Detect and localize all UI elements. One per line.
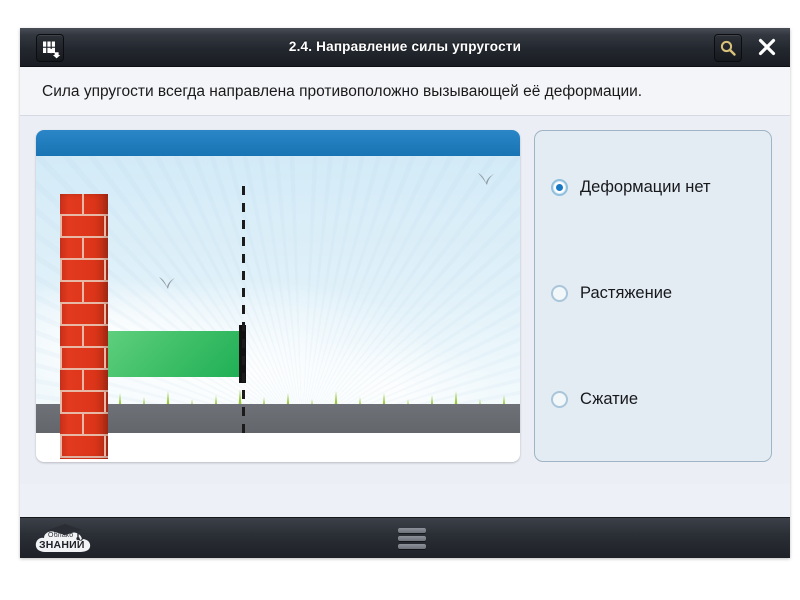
bottom-bar: Облако ЗНАНИЙ	[20, 517, 790, 558]
title-bar: 2.4. Направление силы упругости	[20, 28, 790, 67]
ground	[36, 404, 520, 433]
dashed-reference-line	[242, 186, 245, 438]
green-beam	[108, 331, 242, 377]
answer-options: Деформации нет Растяжение Сжатие	[534, 130, 772, 462]
page-title: 2.4. Направление силы упругости	[20, 28, 790, 66]
sky-background	[36, 156, 520, 433]
hamburger-bar	[398, 536, 426, 541]
radio-icon[interactable]	[551, 391, 568, 408]
brick-wall	[60, 194, 108, 459]
brand-logo[interactable]: Облако ЗНАНИЙ	[32, 522, 98, 554]
answer-option-1[interactable]: Растяжение	[551, 279, 771, 307]
hamburger-bar	[398, 528, 426, 533]
bird-icon	[477, 170, 495, 186]
screenshot-root: 2.4. Направление силы упругости Сила упр…	[0, 0, 800, 600]
content-area: Деформации нет Растяжение Сжатие	[20, 116, 790, 484]
radio-icon-selected[interactable]	[551, 179, 568, 196]
answer-option-label: Растяжение	[580, 284, 672, 303]
elastic-force-illustration	[36, 130, 520, 462]
answer-option-label: Деформации нет	[580, 178, 711, 197]
magnifier-glyph	[715, 35, 741, 61]
bird-icon	[158, 274, 176, 290]
answer-option-label: Сжатие	[580, 390, 638, 409]
close-icon[interactable]	[754, 34, 780, 60]
logo-line-2: ЗНАНИЙ	[39, 539, 85, 551]
app-window: 2.4. Направление силы упругости Сила упр…	[20, 28, 790, 558]
statement-area: Сила упругости всегда направлена противо…	[20, 67, 790, 116]
illustration-header-band	[36, 130, 520, 156]
answer-option-2[interactable]: Сжатие	[551, 385, 771, 413]
hamburger-bar	[398, 544, 426, 549]
answer-option-0[interactable]: Деформации нет	[551, 173, 771, 201]
close-x-glyph	[754, 34, 780, 60]
hamburger-menu-icon[interactable]	[398, 528, 426, 549]
radio-icon[interactable]	[551, 285, 568, 302]
search-icon[interactable]	[714, 34, 742, 62]
sky-rays	[36, 156, 520, 433]
logo-line-1: Облако	[48, 532, 73, 539]
statement-text: Сила упругости всегда направлена противо…	[42, 81, 768, 103]
